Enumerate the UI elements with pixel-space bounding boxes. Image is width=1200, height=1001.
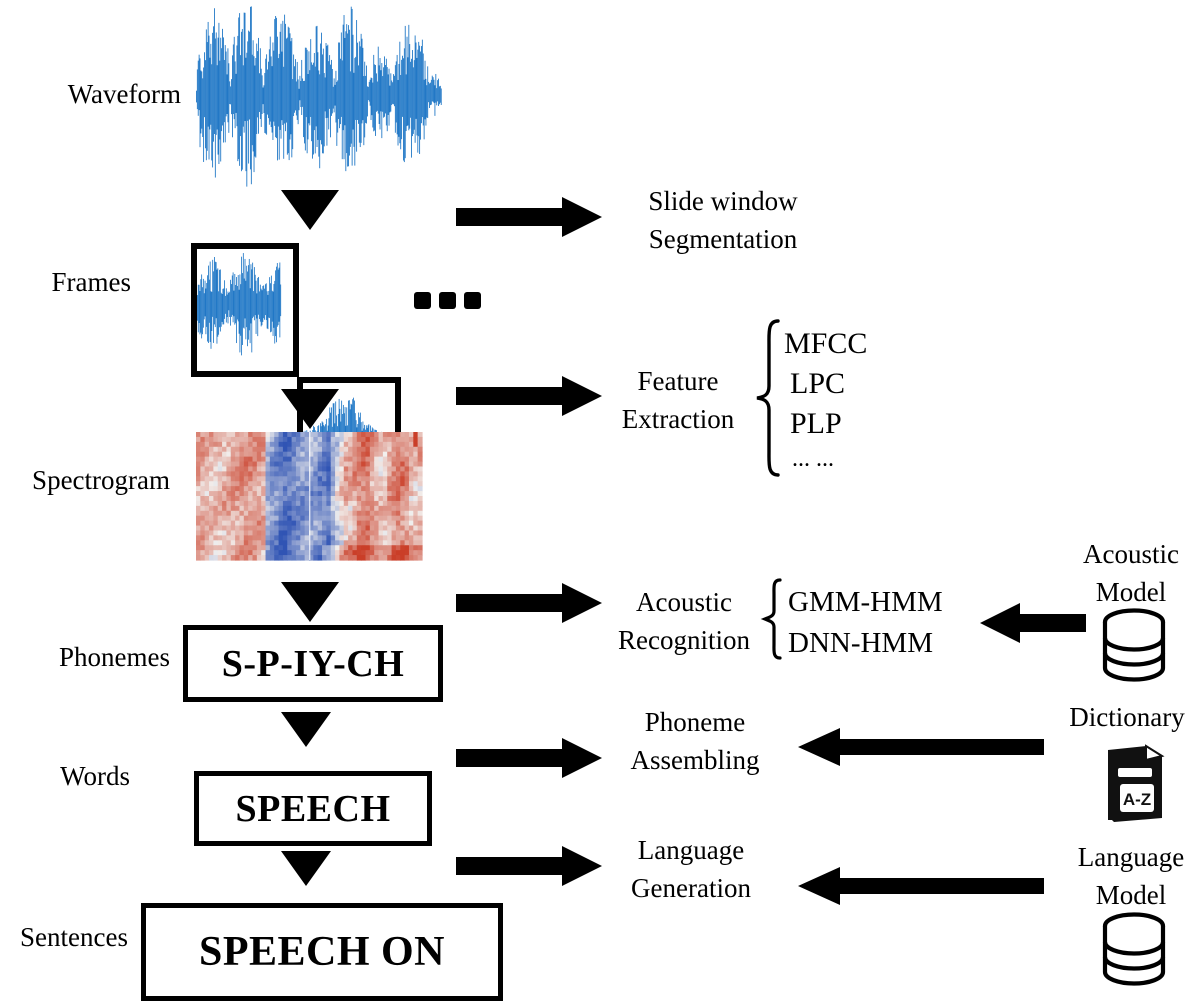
- source-line-2: Model: [1062, 573, 1200, 611]
- database-cylinder-icon: [1100, 912, 1168, 990]
- process-line-2: Extraction: [598, 400, 758, 438]
- options-acoustic-recognition: GMM-HMM DNN-HMM: [788, 582, 988, 663]
- process-line-1: Feature: [598, 362, 758, 400]
- source-line-2: Model: [1062, 876, 1200, 914]
- process-arrow-right-3: [456, 583, 602, 623]
- process-arrow-right-5: [456, 846, 602, 886]
- frame-box-1: [191, 243, 299, 377]
- process-line-2: Assembling: [602, 741, 788, 779]
- process-line-1: Slide window: [612, 182, 834, 220]
- source-line-1: Acoustic: [1062, 535, 1200, 573]
- flow-arrow-down-4: [281, 712, 331, 749]
- source-line-1: Language: [1062, 838, 1200, 876]
- stage-label-frames: Frames: [0, 268, 131, 297]
- process-line-1: Phoneme: [602, 703, 788, 741]
- option-item: PLP: [784, 404, 944, 444]
- dictionary-book-icon: A-Z: [1098, 742, 1174, 822]
- process-language-generation: Language Generation: [602, 831, 780, 908]
- source-label-acoustic-model: Acoustic Model: [1062, 535, 1200, 612]
- sentences-box: SPEECH ON: [141, 903, 503, 1001]
- stage-label-sentences: Sentences: [0, 923, 128, 952]
- frames-ellipsis-icon: [414, 292, 481, 309]
- source-arrow-left-dictionary: [798, 728, 1044, 766]
- diagram-canvas: Waveform Frames Spectrogram Phonemes Wor…: [0, 0, 1200, 991]
- process-slide-window-segmentation: Slide window Segmentation: [612, 182, 834, 259]
- brace-feature-extraction-icon: [754, 318, 782, 478]
- process-arrow-right-2: [456, 376, 602, 416]
- process-arrow-right-4: [456, 738, 602, 778]
- words-box: SPEECH: [194, 771, 432, 846]
- option-item: GMM-HMM: [788, 582, 988, 623]
- option-item: DNN-HMM: [788, 623, 988, 664]
- brace-acoustic-recognition-icon: [762, 578, 784, 660]
- stage-label-spectrogram: Spectrogram: [0, 466, 170, 495]
- phonemes-box: S-P-IY-CH: [183, 625, 443, 702]
- spectrogram-graphic: [196, 432, 422, 560]
- process-feature-extraction: Feature Extraction: [598, 362, 758, 439]
- process-acoustic-recognition: Acoustic Recognition: [600, 583, 768, 660]
- flow-arrow-down-1: [281, 190, 339, 232]
- process-line-1: Acoustic: [600, 583, 768, 621]
- option-item: ... ...: [784, 444, 944, 476]
- process-line-2: Generation: [602, 869, 780, 907]
- source-label-language-model: Language Model: [1062, 838, 1200, 915]
- flow-arrow-down-2: [281, 389, 339, 431]
- process-line-2: Segmentation: [612, 220, 834, 258]
- flow-arrow-down-5: [281, 851, 331, 888]
- database-cylinder-icon: [1100, 608, 1168, 686]
- option-item: MFCC: [784, 324, 944, 364]
- options-feature-extraction: MFCC LPC PLP ... ...: [784, 324, 944, 476]
- stage-label-waveform: Waveform: [0, 80, 181, 109]
- process-arrow-right-1: [456, 197, 602, 237]
- waveform-graphic: [196, 0, 441, 190]
- source-label-dictionary: Dictionary: [1054, 703, 1200, 732]
- flow-arrow-down-3: [281, 582, 339, 624]
- process-line-2: Recognition: [600, 621, 768, 659]
- source-arrow-left-language-model: [798, 867, 1044, 905]
- stage-label-words: Words: [0, 762, 130, 791]
- stage-label-phonemes: Phonemes: [0, 643, 170, 672]
- option-item: LPC: [784, 364, 944, 404]
- process-phoneme-assembling: Phoneme Assembling: [602, 703, 788, 780]
- process-line-1: Language: [602, 831, 780, 869]
- dictionary-az-label: A-Z: [1123, 790, 1151, 809]
